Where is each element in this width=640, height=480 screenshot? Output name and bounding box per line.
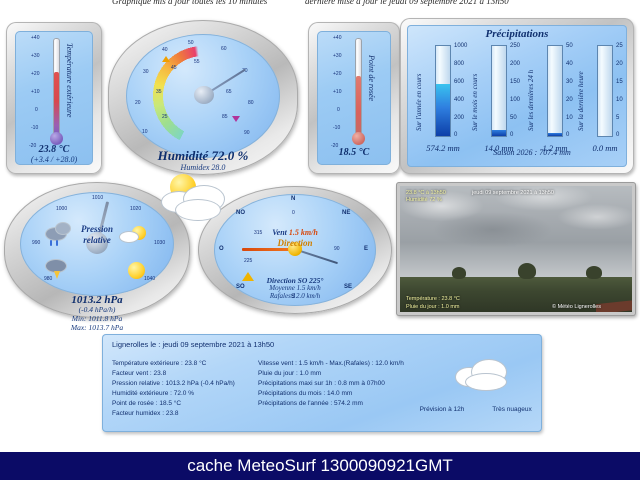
summary-panel[interactable]: Lignerolles le : jeudi 09 septembre 2021… — [102, 334, 542, 432]
summary-heading: Lignerolles le : jeudi 09 septembre 2021… — [112, 340, 274, 349]
outdoor-temperature-gauge[interactable]: +40 +30 +20 +10 0 -10 -20 Température ex… — [6, 22, 102, 174]
compass-n: N — [291, 196, 295, 202]
temperature-range: (+3.4 / +28.0) — [15, 155, 93, 164]
compass-ne: NE — [342, 210, 350, 216]
forecast-condition: Très nuageux — [484, 406, 540, 413]
temperature-value: 23.8 °C — [15, 144, 93, 155]
pressure-tick-1000: 1000 — [56, 206, 67, 212]
lightning-icon — [54, 271, 60, 279]
precip-month-s2: 150 — [510, 79, 520, 85]
wind-deg-0: 0 — [292, 210, 295, 216]
humidity-inner-85: 85 — [222, 114, 228, 120]
humidity-needle-hub — [194, 86, 214, 104]
precip-24h-s4: 10 — [566, 115, 573, 121]
precip-24h-s5: 0 — [566, 132, 569, 138]
summary-left-line-2: Pression relative : 1013.2 hPa (-0.4 hPa… — [112, 380, 235, 387]
wind-deg-225: 225 — [244, 258, 252, 264]
summary-right-line-4: Précipitations de l'année : 574.2 mm — [258, 400, 363, 407]
pressure-min: Min: 1011.8 hPa — [4, 314, 190, 323]
humidity-min-marker-icon — [162, 56, 170, 62]
pressure-tick-1020: 1020 — [130, 206, 141, 212]
precip-month-s3: 100 — [510, 97, 520, 103]
webcam-temp-bottom: Température : 23.8 °C — [406, 296, 460, 302]
precip-year-s5: 0 — [454, 132, 457, 138]
humidity-value: Humidité 72.0 % — [108, 148, 298, 164]
pressure-tick-1040: 1040 — [144, 276, 155, 282]
dewpoint-bulb — [352, 132, 365, 145]
humidity-inner-35: 35 — [156, 89, 162, 95]
humidity-tick-40: 40 — [162, 47, 168, 53]
composite-cloud-icon-3 — [176, 200, 220, 220]
humidity-tick-20: 20 — [135, 100, 141, 106]
webcam-rain-bottom: Pluie du jour : 1.0 mm — [406, 304, 460, 310]
temp-scale-40: +40 — [31, 35, 39, 41]
temp-scale-m10: -10 — [31, 125, 38, 131]
dewpoint-value: 18.5 °C — [317, 147, 391, 158]
temp-scale-10: +10 — [31, 89, 39, 95]
precip-24h-fill — [548, 133, 562, 136]
dew-scale-20: +20 — [333, 71, 341, 77]
precip-24h-s3: 20 — [566, 97, 573, 103]
forecast-icon — [454, 356, 518, 394]
humidity-inner-45: 45 — [171, 65, 177, 71]
webcam-humidity-overlay: Humidité 72 % — [406, 197, 442, 203]
summary-left-line-4: Point de rosée : 18.5 °C — [112, 400, 181, 407]
summary-left-line-5: Facteur humidex : 23.8 — [112, 410, 178, 417]
summary-right-line-0: Vitesse vent : 1.5 km/h - Max.(Rafales) … — [258, 360, 404, 367]
webcam-tree-1 — [518, 263, 536, 279]
precip-year-s3: 400 — [454, 97, 464, 103]
precip-month-s5: 0 — [510, 132, 513, 138]
precip-hour-s5: 0 — [616, 132, 619, 138]
humidity-tick-90: 90 — [244, 130, 250, 136]
humidity-inner-55: 55 — [194, 59, 200, 65]
wind-subtitle: Direction — [214, 238, 376, 248]
wind-title: Vent 1.5 km/h — [214, 228, 376, 237]
temp-scale-0: 0 — [35, 107, 38, 113]
precip-24h-tube — [547, 45, 563, 137]
humidity-tick-30: 30 — [143, 69, 149, 75]
precip-24h-s1: 40 — [566, 61, 573, 67]
current-conditions-icon — [156, 172, 236, 228]
forecast-cloud-icon-3 — [466, 374, 506, 390]
pressure-caption-line2: relative — [20, 235, 174, 245]
temperature-mercury — [54, 72, 59, 137]
pressure-tick-1010: 1010 — [92, 195, 103, 201]
summary-right-line-2: Précipitations maxi sur 1h : 0.8 mm à 07… — [258, 380, 385, 387]
dew-scale-10: +10 — [333, 89, 341, 95]
precip-month-fill — [492, 130, 506, 136]
summary-right-line-3: Précipitations du mois : 14.0 mm — [258, 390, 352, 397]
precip-hour-label: Sur la dernière heure — [577, 49, 585, 131]
precipitation-panel[interactable]: Précipitations Sur l'année en cours 1000… — [400, 18, 634, 174]
webcam-tree-2 — [452, 267, 466, 279]
temp-scale-20: +20 — [31, 71, 39, 77]
dewpoint-mercury — [356, 76, 361, 137]
webcam-panel[interactable]: 23.8 °C à 13h50 Humidité 72 % jeudi 09 s… — [396, 182, 636, 316]
summary-left-line-1: Facteur vent : 23.8 — [112, 370, 166, 377]
precipitation-title: Précipitations — [407, 28, 627, 40]
precip-season-total: Saison 2026 : 707.4 mm — [457, 148, 607, 157]
precip-year-s0: 1000 — [454, 43, 467, 49]
summary-right-line-1: Pluie du jour : 1.0 mm — [258, 370, 321, 377]
dewpoint-tube — [355, 38, 362, 137]
status-bar-text: cache MeteoSurf 1300090921GMT — [187, 456, 453, 476]
wind-gust-line: Rafales 12.0 km/h — [214, 292, 376, 300]
precip-hour-s3: 10 — [616, 97, 623, 103]
wind-direction-needle — [242, 248, 294, 251]
wind-speed-value: 1.5 km/h — [289, 228, 318, 237]
webcam-copyright: © Météo Lignerolles — [552, 304, 601, 310]
header-right-note: dernière mise à jour le jeudi 09 septemb… — [305, 0, 509, 6]
wind-average-line: Moyenne 1.5 km/h — [214, 284, 376, 292]
precip-hour-s2: 15 — [616, 79, 623, 85]
precip-year-s1: 800 — [454, 61, 464, 67]
humidity-inner-65: 65 — [226, 89, 232, 95]
weather-dashboard: Graphique mis à jour toutes les 10 minut… — [0, 0, 640, 480]
precip-hour-s1: 20 — [616, 61, 623, 67]
precip-year-tube — [435, 45, 451, 137]
precip-month-s4: 50 — [510, 115, 517, 121]
precip-hour-tube — [597, 45, 613, 137]
webcam-date-overlay: jeudi 09 septembre 2021 à 13h50 — [472, 190, 554, 196]
dew-scale-0: 0 — [337, 107, 340, 113]
humidity-tick-60: 60 — [221, 46, 227, 52]
sun-icon-2 — [128, 262, 145, 279]
precip-24h-s0: 50 — [566, 43, 573, 49]
compass-no: NO — [236, 210, 245, 216]
precip-24h-s2: 30 — [566, 79, 573, 85]
webcam-temp-overlay: 23.8 °C à 13h50 — [406, 190, 446, 196]
pressure-max: Max: 1013.7 hPa — [4, 323, 190, 332]
temp-scale-30: +30 — [31, 53, 39, 59]
humidity-tick-10: 10 — [142, 129, 148, 135]
dew-scale-30: +30 — [333, 53, 341, 59]
precip-month-label: Sur le mois en cours — [471, 49, 479, 131]
precip-month-s0: 250 — [510, 43, 520, 49]
pressure-face: 1010 1000 1020 990 1030 980 1040 Pressio… — [20, 192, 174, 296]
humidity-max-marker-icon — [232, 116, 240, 122]
humidity-tick-80: 80 — [248, 100, 254, 106]
forecast-time-label: Prévision à 12h — [402, 406, 482, 413]
summary-left-line-3: Humidité extérieure : 72.0 % — [112, 390, 194, 397]
dew-scale-m10: -10 — [333, 125, 340, 131]
temperature-tube — [53, 38, 60, 137]
precip-year-s4: 200 — [454, 115, 464, 121]
humidex-value: Humidex 28.0 — [108, 163, 298, 172]
precip-year-fill — [436, 84, 450, 136]
precip-month-s1: 200 — [510, 61, 520, 67]
precipitation-face: Précipitations Sur l'année en cours 1000… — [407, 25, 627, 167]
header-left-note: Graphique mis à jour toutes les 10 minut… — [112, 0, 267, 6]
dewpoint-gauge[interactable]: +40 +30 +20 +10 0 -10 -20 Point de rosée… — [308, 22, 400, 174]
temperature-axis-label: Température extérieure — [65, 43, 74, 117]
temperature-face: +40 +30 +20 +10 0 -10 -20 Température ex… — [15, 31, 93, 165]
precip-hour-s0: 25 — [616, 43, 623, 49]
precip-year-s2: 600 — [454, 79, 464, 85]
humidity-tick-50: 50 — [188, 40, 194, 46]
webcam-image: 23.8 °C à 13h50 Humidité 72 % jeudi 09 s… — [400, 186, 632, 312]
wind-face: N NE E SE S SO O NO 0 315 90 225 Vent 1.… — [214, 194, 376, 306]
precip-year-label: Sur l'année en cours — [415, 49, 423, 131]
wind-title-prefix: Vent — [272, 228, 287, 237]
humidity-inner-25: 25 — [162, 114, 168, 120]
status-bar: cache MeteoSurf 1300090921GMT — [0, 452, 640, 480]
precip-24h-label: Sur les dernières 24 h — [527, 49, 535, 131]
pressure-tick-980: 980 — [44, 276, 52, 282]
dew-scale-40: +40 — [333, 35, 341, 41]
dewpoint-face: +40 +30 +20 +10 0 -10 -20 Point de rosée… — [317, 31, 391, 165]
precip-month-tube — [491, 45, 507, 137]
dewpoint-axis-label: Point de rosée — [367, 55, 376, 101]
summary-left-line-0: Température extérieure : 23.8 °C — [112, 360, 206, 367]
humidity-face: 50 40 60 30 70 20 80 10 90 55 45 35 25 6… — [126, 34, 280, 158]
humidity-gauge[interactable]: 50 40 60 30 70 20 80 10 90 55 45 35 25 6… — [108, 20, 298, 175]
precip-hour-s4: 5 — [616, 115, 619, 121]
pressure-caption-line1: Pression — [20, 224, 174, 234]
webcam-tree-3 — [586, 266, 602, 279]
pressure-trend: (-0.4 hPa/h) — [4, 305, 190, 314]
